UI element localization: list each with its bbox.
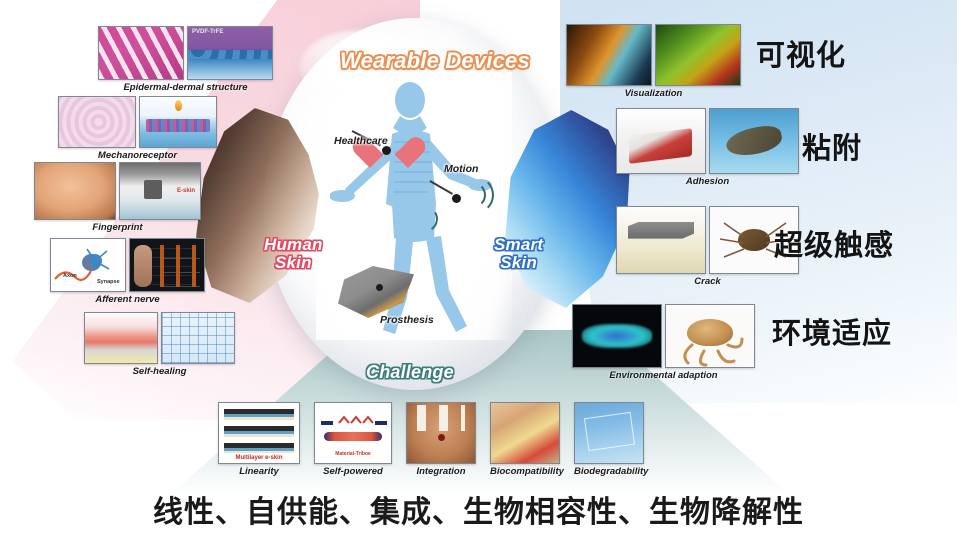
prosthesis-label: Prosthesis	[380, 314, 434, 326]
cn-label-visualization: 可视化	[756, 32, 846, 74]
e-skin-inset-text: E-skin	[177, 188, 195, 194]
thumb-multilayer-e-skin-exploded-view: Multilayer e-skin	[218, 402, 300, 464]
octopus-arms-svg	[666, 305, 755, 368]
healthcare-sensor-dot	[382, 146, 391, 155]
thumb-sensor-on-back-of-hand-photo	[406, 402, 476, 464]
thumb-gecko-on-glass-photo	[709, 108, 799, 174]
human-skin-label-line2: Skin	[264, 254, 323, 272]
group-afferent-nerve: Axon Synapse Afferent nerve	[50, 238, 205, 305]
bottom-item-biodegradability: Biodegradability	[574, 402, 644, 477]
thumb-chameleon-camouflage-photo	[655, 24, 741, 86]
cn-label-environmental-adaption: 环境适应	[772, 310, 892, 352]
finger-shape	[134, 245, 152, 287]
thumb-flexible-display-on-curved-surface	[566, 24, 652, 86]
thumb-stretchable-generator-schematic: Material-Triboe	[314, 402, 392, 464]
caption-biodegradability: Biodegradability	[574, 466, 644, 477]
smart-skin-label-line2: Skin	[494, 254, 543, 272]
thumb-row: PVDF-TrFE	[98, 26, 273, 80]
thumb-row: E-skin	[34, 162, 201, 220]
thumb-blue-sensor-device-schematic	[139, 96, 217, 148]
group-fingerprint: E-skin Fingerprint	[34, 162, 201, 233]
prosthesis-sensor-dot	[376, 284, 383, 291]
bottom-chinese-caption: 线性、自供能、集成、生物相容性、生物降解性	[153, 487, 804, 531]
group-self-healing: Self-healing	[84, 312, 235, 377]
caption-self-healing: Self-healing	[84, 366, 235, 377]
caption-adhesion: Adhesion	[616, 176, 799, 187]
group-mechanoreceptor: Mechanoreceptor	[58, 96, 217, 161]
caption-biocompatibility: Biocompatibility	[490, 466, 560, 477]
wearable-devices-title: Wearable Devices	[340, 48, 530, 74]
caption-integration: Integration	[406, 466, 476, 477]
bottom-item-linearity: Multilayer e-skin Linearity	[218, 402, 300, 477]
axon-inset-label: Axon	[63, 273, 77, 279]
thumb-row: Axon Synapse	[50, 238, 205, 292]
cn-label-super-touch: 超级触感	[774, 222, 894, 264]
flame-icon	[175, 100, 182, 111]
thumb-fluorescent-hydrogel-actuator	[572, 304, 662, 368]
thumb-dissolving-device-in-liquid-photo	[574, 402, 644, 464]
multilayer-inset-text: Multilayer e-skin	[219, 455, 299, 461]
thumb-fingertip-photo	[34, 162, 116, 220]
caption-environmental-adaption: Environmental adaption	[572, 370, 755, 381]
group-epidermal-dermal-structure: PVDF-TrFE Epidermal-dermal structure	[98, 26, 273, 93]
caption-afferent-nerve: Afferent nerve	[50, 294, 205, 305]
group-visualization: Visualization	[566, 24, 741, 99]
thumb-row	[616, 108, 799, 174]
caption-mechanoreceptor: Mechanoreceptor	[58, 150, 217, 161]
thumb-row	[572, 304, 755, 368]
touch-array	[160, 245, 200, 287]
caption-linearity: Linearity	[218, 466, 300, 477]
thumb-crack-based-strain-sensor-block	[616, 206, 706, 274]
bottom-thumb-row: Multilayer e-skin Linearity Material-Tri…	[218, 402, 644, 477]
challenge-label: Challenge	[366, 362, 454, 383]
cn-label-adhesion: 粘附	[802, 125, 862, 167]
group-crack: Crack	[616, 206, 799, 287]
bottom-item-biocompatibility: Biocompatibility	[490, 402, 560, 477]
thumb-row	[566, 24, 741, 86]
thumb-biomaterial-in-hand-photo	[490, 402, 560, 464]
smart-skin-label-line1: Smart	[494, 236, 543, 254]
thumb-pvdf-trfe-bilayer-cross-section: PVDF-TrFE	[187, 26, 273, 80]
thumb-octopus-photo	[665, 304, 755, 368]
pvdf-inset-text: PVDF-TrFE	[192, 29, 223, 35]
thumb-row	[84, 312, 235, 364]
human-skin-label: Human Skin	[264, 236, 323, 273]
caption-crack: Crack	[616, 276, 799, 287]
thumb-neuron-axon-synapse-diagram: Axon Synapse	[50, 238, 126, 292]
thumb-self-healing-crack-schematic	[84, 312, 158, 364]
group-adhesion: Adhesion	[616, 108, 799, 187]
motion-label: Motion	[444, 163, 478, 175]
thumb-histology-pink-micrograph	[98, 26, 184, 80]
thumb-skin-patch-adhesion-schematic	[616, 108, 706, 174]
caption-visualization: Visualization	[566, 88, 741, 99]
caption-fingerprint: Fingerprint	[34, 222, 201, 233]
bottom-item-integration: Integration	[406, 402, 476, 477]
thumb-row	[58, 96, 217, 148]
synapse-inset-label: Synapse	[97, 279, 120, 285]
figure-canvas: Wearable Devices Human Skin Smart Skin C…	[0, 0, 957, 533]
selfpower-inset-text: Material-Triboe	[315, 451, 391, 457]
group-environmental-adaption: Environmental adaption	[572, 304, 755, 381]
thumb-press-test-setup-schematic: E-skin	[119, 162, 201, 220]
thumb-finger-touch-array-demo	[129, 238, 205, 292]
human-skeleton-illustration	[330, 78, 510, 346]
healthcare-label: Healthcare	[334, 135, 388, 147]
motion-wave-arc	[456, 176, 494, 214]
bottom-item-self-powered: Material-Triboe Self-powered	[314, 402, 392, 477]
caption-self-powered: Self-powered	[314, 466, 392, 477]
bottom-thumb-flex: Multilayer e-skin Linearity Material-Tri…	[218, 402, 644, 477]
thumb-row	[616, 206, 799, 274]
thumb-hydrogen-bond-lattice-diagram	[161, 312, 235, 364]
caption-epidermal-dermal-structure: Epidermal-dermal structure	[98, 82, 273, 93]
thumb-pacinian-corpuscle-micrograph	[58, 96, 136, 148]
human-skin-label-line1: Human	[264, 236, 323, 254]
smart-skin-label: Smart Skin	[494, 236, 543, 273]
